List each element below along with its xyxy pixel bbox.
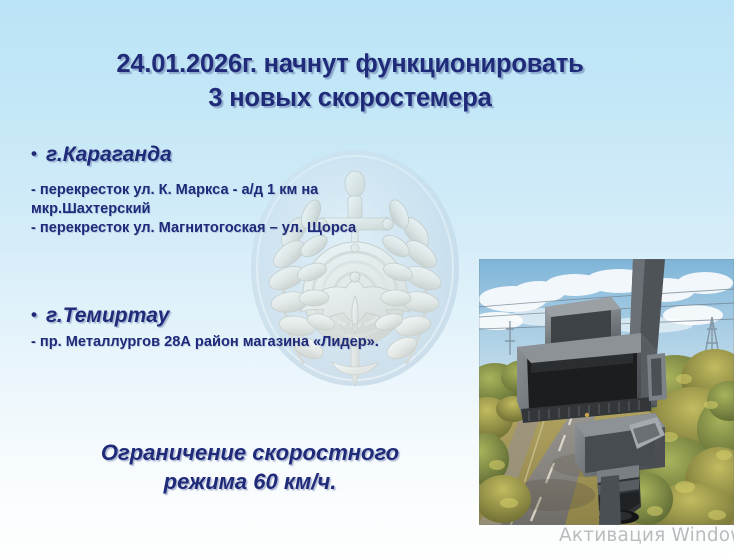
city-details-temirtau: - пр. Металлургов 28А район магазина «Ли… <box>31 333 501 352</box>
slide-title: 24.01.2026г. начнут функционировать 3 но… <box>0 48 700 115</box>
city-heading-karaganda: •г.Караганда <box>31 143 501 167</box>
city-block-karaganda: •г.Караганда - перекресток ул. К. Маркса… <box>31 143 501 238</box>
speed-limit-slogan: Ограничение скоростного режима 60 км/ч. <box>24 438 476 497</box>
windows-activation-watermark: Активация Window <box>559 525 734 546</box>
slide-body: •г.Караганда - перекресток ул. К. Маркса… <box>31 143 501 352</box>
speed-camera-photo <box>479 259 734 525</box>
bullet-icon: • <box>31 144 37 164</box>
presentation-slide: 24.01.2026г. начнут функционировать 3 но… <box>0 0 734 554</box>
city-details-karaganda: - перекресток ул. К. Маркса - а/д 1 км н… <box>31 181 501 238</box>
city-block-temirtau: •г.Темиртау - пр. Металлургов 28А район … <box>31 304 501 352</box>
city-heading-temirtau: •г.Темиртау <box>31 304 501 328</box>
bullet-icon: • <box>31 305 37 325</box>
city-name-temirtau: г.Темиртау <box>46 304 169 327</box>
city-name-karaganda: г.Караганда <box>46 143 172 166</box>
